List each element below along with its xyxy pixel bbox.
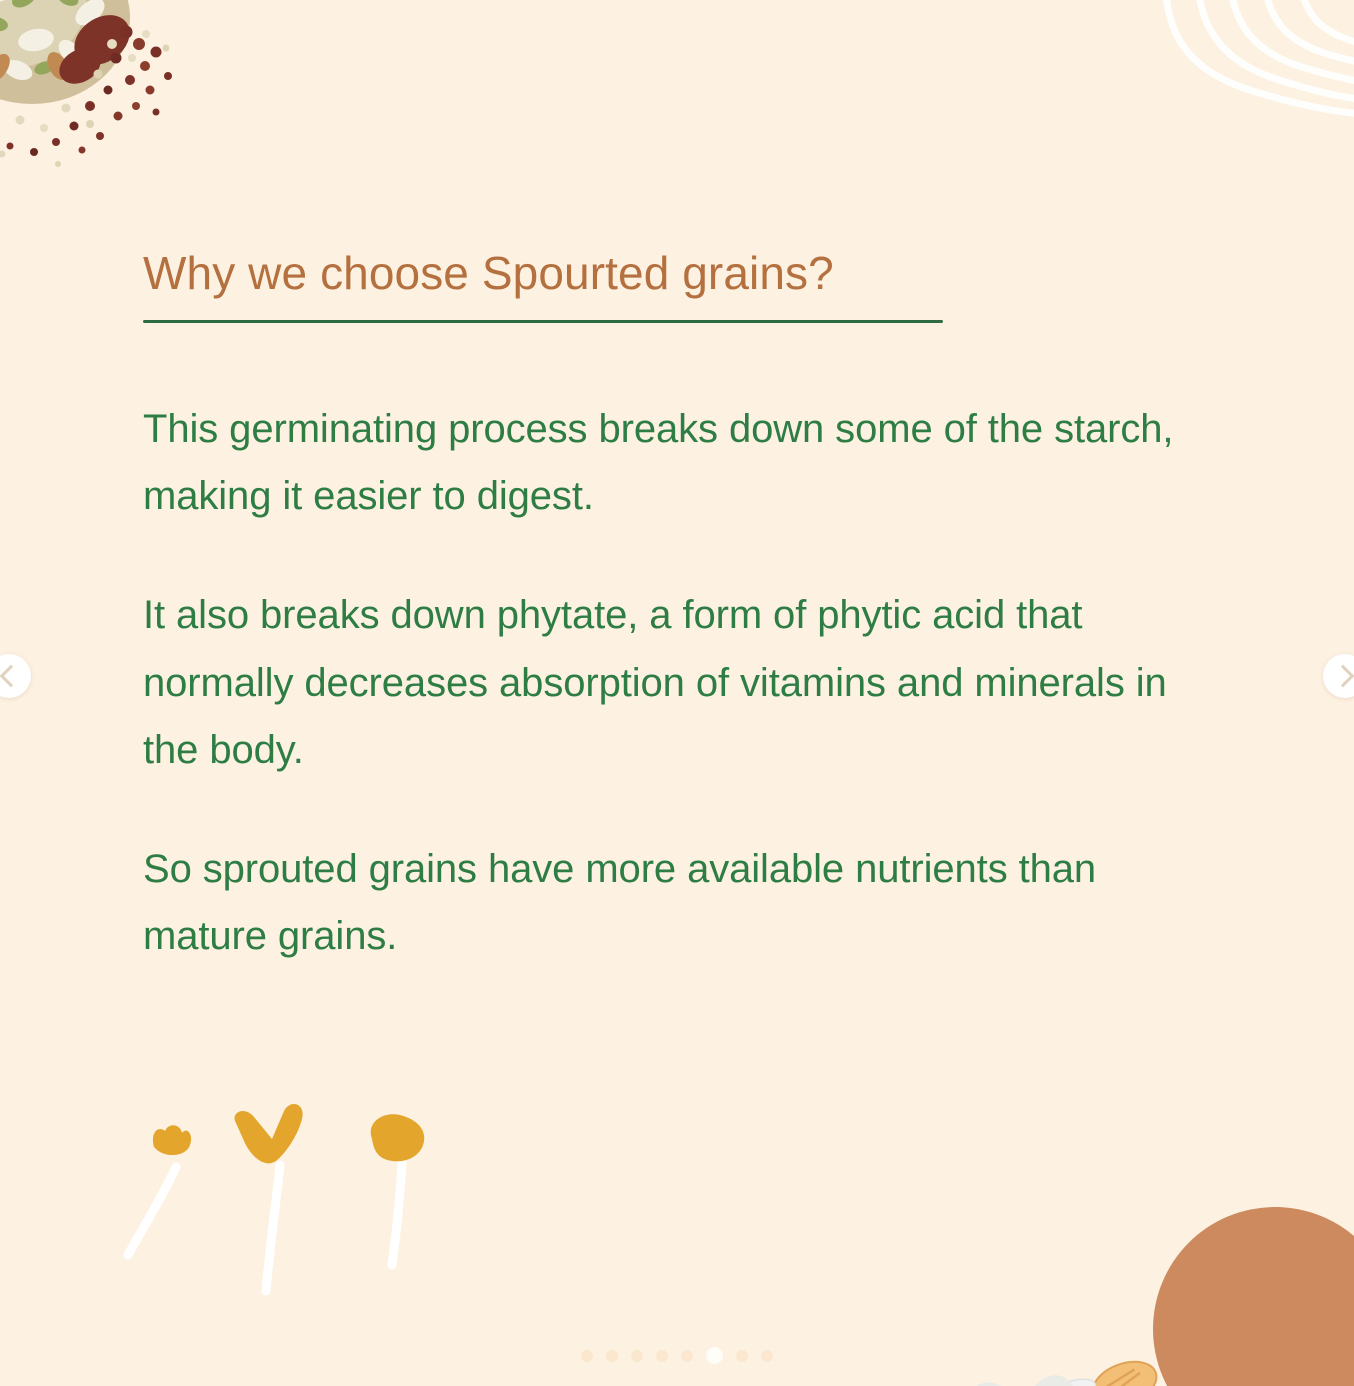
grain-photo-corner bbox=[0, 0, 230, 200]
chevron-right-icon bbox=[1332, 665, 1354, 688]
carousel-dots bbox=[0, 1347, 1354, 1364]
carousel-next-button[interactable] bbox=[1323, 654, 1354, 698]
carousel-dot-7[interactable] bbox=[736, 1350, 748, 1362]
carousel-dot-4[interactable] bbox=[656, 1350, 668, 1362]
carousel-slide: Why we choose Spourted grains? This germ… bbox=[0, 0, 1354, 1386]
carousel-dot-2[interactable] bbox=[606, 1350, 618, 1362]
wave-lines-graphic bbox=[1124, 0, 1354, 140]
paragraph-1: This germinating process breaks down som… bbox=[143, 396, 1193, 530]
paragraph-2: It also breaks down phytate, a form of p… bbox=[143, 582, 1193, 784]
mandala-graphic bbox=[930, 984, 1354, 1386]
page-title: Why we choose Spourted grains? bbox=[143, 248, 973, 300]
body-copy: This germinating process breaks down som… bbox=[143, 396, 1193, 970]
carousel-dot-6[interactable] bbox=[706, 1347, 723, 1364]
grain-mandala bbox=[930, 984, 1354, 1386]
sprouts-graphic bbox=[120, 1095, 460, 1325]
grain-corner-graphic bbox=[0, 0, 230, 200]
headline-block: Why we choose Spourted grains? bbox=[143, 248, 973, 323]
carousel-dot-8[interactable] bbox=[761, 1350, 773, 1362]
paragraph-3: So sprouted grains have more available n… bbox=[143, 836, 1193, 970]
carousel-dot-5[interactable] bbox=[681, 1350, 693, 1362]
carousel-dot-1[interactable] bbox=[581, 1350, 593, 1362]
heading-underline bbox=[143, 320, 943, 323]
chevron-left-icon bbox=[0, 665, 22, 688]
decorative-wave-lines bbox=[1124, 0, 1354, 140]
sprout-illustrations bbox=[120, 1095, 460, 1325]
carousel-dot-3[interactable] bbox=[631, 1350, 643, 1362]
carousel-prev-button[interactable] bbox=[0, 654, 31, 698]
